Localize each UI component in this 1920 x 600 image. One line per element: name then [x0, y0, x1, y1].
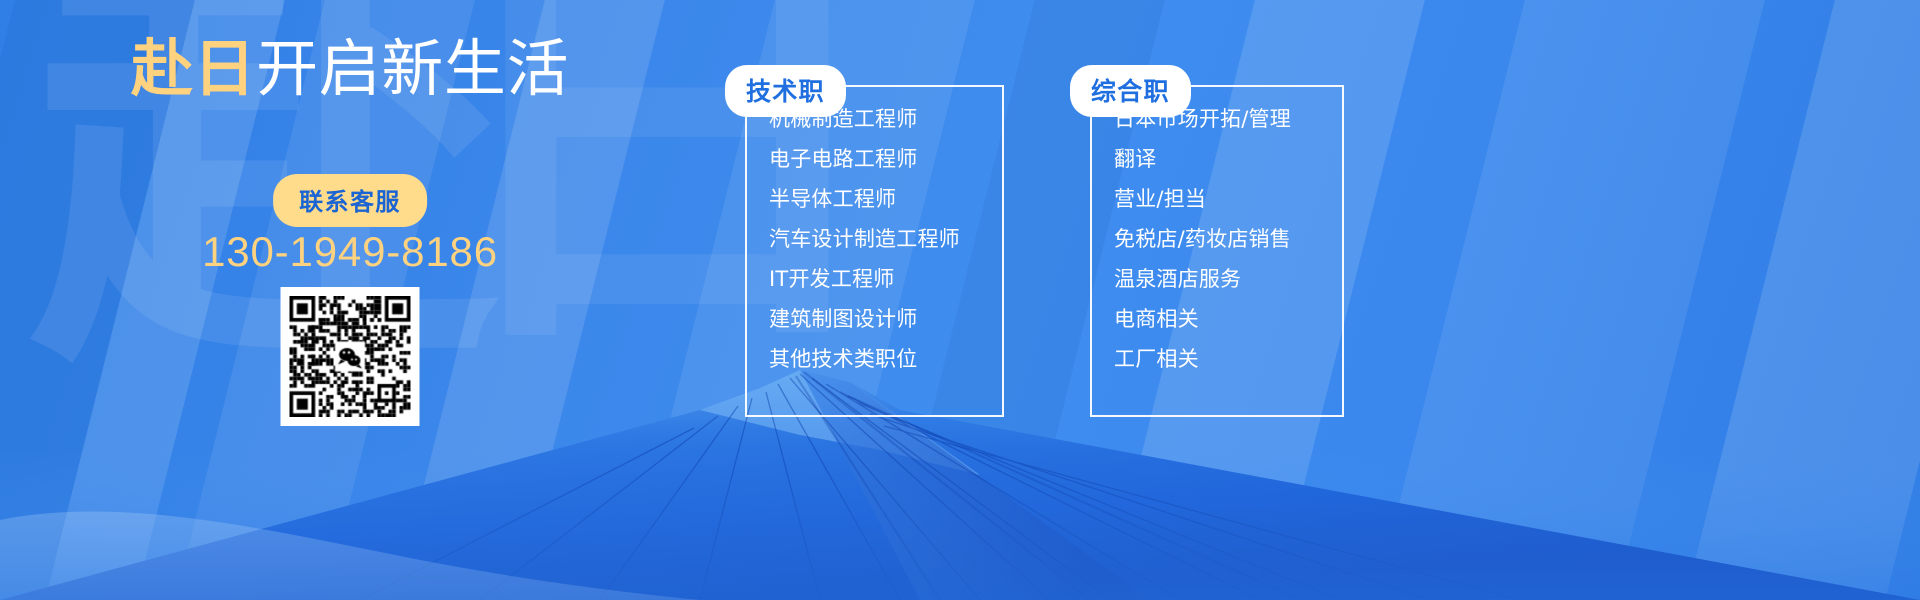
list-item[interactable]: 营业/担当: [1114, 189, 1342, 210]
badge-technical[interactable]: 技术职: [725, 65, 846, 117]
job-category-general: 综合职 日本市场开拓/管理 翻译 营业/担当 免税店/药妆店销售 温泉酒店服务 …: [1090, 85, 1344, 417]
job-list-general: 日本市场开拓/管理 翻译 营业/担当 免税店/药妆店销售 温泉酒店服务 电商相关…: [1092, 87, 1342, 370]
list-item[interactable]: 建筑制图设计师: [769, 309, 1002, 330]
phone-number: 130-1949-8186: [0, 228, 700, 276]
list-item[interactable]: 汽车设计制造工程师: [769, 229, 1002, 250]
qr-code-image: [290, 296, 411, 417]
list-item[interactable]: IT开发工程师: [769, 269, 1002, 290]
list-item[interactable]: 工厂相关: [1114, 349, 1342, 370]
qr-code[interactable]: [281, 287, 420, 426]
promo-banner: 赴 日: [0, 0, 1920, 600]
headline-highlight: 赴日: [131, 32, 256, 105]
headline-rest: 开启新生活: [256, 32, 569, 105]
job-category-technical: 技术职 机械制造工程师 电子电路工程师 半导体工程师 汽车设计制造工程师 IT开…: [745, 85, 1004, 417]
list-item[interactable]: 其他技术类职位: [769, 349, 1002, 370]
job-list-technical: 机械制造工程师 电子电路工程师 半导体工程师 汽车设计制造工程师 IT开发工程师…: [747, 87, 1002, 370]
left-content: 赴日开启新生活 联系客服 130-1949-8186: [0, 0, 700, 600]
contact-service-button[interactable]: 联系客服: [273, 174, 427, 227]
badge-general[interactable]: 综合职: [1070, 65, 1191, 117]
list-item[interactable]: 半导体工程师: [769, 189, 1002, 210]
list-item[interactable]: 电商相关: [1114, 309, 1342, 330]
list-item[interactable]: 电子电路工程师: [769, 149, 1002, 170]
list-item[interactable]: 温泉酒店服务: [1114, 269, 1342, 290]
list-item[interactable]: 翻译: [1114, 149, 1342, 170]
list-item[interactable]: 免税店/药妆店销售: [1114, 229, 1342, 250]
page-title: 赴日开启新生活: [0, 38, 700, 100]
